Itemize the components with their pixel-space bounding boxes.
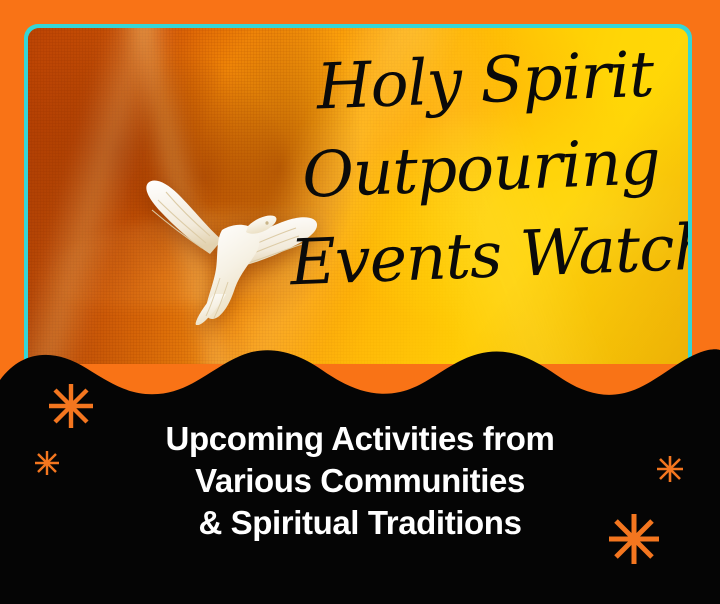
dove-icon [136,170,322,325]
hero-image-panel: Holy Spirit Outpouring Events Watch [24,24,692,364]
sparkle-small-left-icon [34,450,60,476]
poster-root: Holy Spirit Outpouring Events Watch Upco… [0,0,720,604]
sparkle-large-left-icon [48,383,94,429]
subhead-line-2: Various Communities [0,460,720,502]
hero-photo: Holy Spirit Outpouring Events Watch [28,28,688,364]
sparkle-large-right-icon [608,513,660,565]
subhead-line-1: Upcoming Activities from [0,418,720,460]
sparkle-small-right-icon [656,455,684,483]
